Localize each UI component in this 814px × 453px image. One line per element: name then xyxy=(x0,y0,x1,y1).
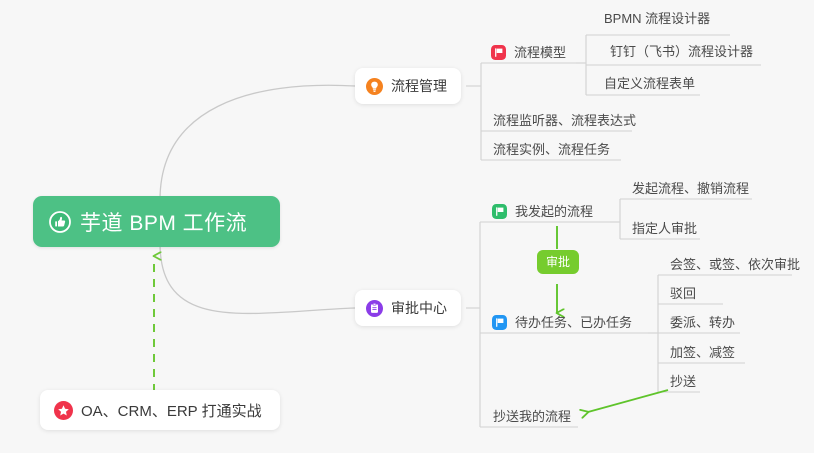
leaf-label: 待办任务、已办任务 xyxy=(515,315,632,330)
leaf-label: 钉钉（飞书）流程设计器 xyxy=(610,44,753,59)
leaf-delegate-transfer[interactable]: 委派、转办 xyxy=(664,315,741,335)
leaf-cc[interactable]: 抄送 xyxy=(664,374,702,394)
leaf-my-initiated[interactable]: 我发起的流程 xyxy=(492,204,599,224)
approval-callout: 审批 xyxy=(537,250,579,274)
star-icon xyxy=(54,401,73,420)
leaf-dingtalk-designer[interactable]: 钉钉（飞书）流程设计器 xyxy=(604,44,759,64)
leaf-label: 发起流程、撤销流程 xyxy=(632,181,749,196)
leaf-label: 流程实例、流程任务 xyxy=(493,142,610,157)
leaf-label: 自定义流程表单 xyxy=(604,76,695,91)
leaf-label: 委派、转办 xyxy=(670,315,735,330)
branch-node-approval-center[interactable]: 审批中心 xyxy=(355,290,461,326)
leaf-label: 指定人审批 xyxy=(632,221,697,236)
leaf-cc-to-me[interactable]: 抄送我的流程 xyxy=(487,409,577,429)
leaf-label: 流程监听器、流程表达式 xyxy=(493,113,636,128)
lightbulb-icon xyxy=(366,78,383,95)
leaf-bpmn-designer[interactable]: BPMN 流程设计器 xyxy=(598,11,716,31)
leaf-start-cancel-process[interactable]: 发起流程、撤销流程 xyxy=(626,181,755,201)
branch-label-process-management: 流程管理 xyxy=(391,76,447,96)
leaf-process-model[interactable]: 流程模型 xyxy=(491,45,572,65)
leaf-label: 抄送我的流程 xyxy=(493,409,571,424)
mindmap-canvas: 芋道 BPM 工作流 流程管理 审批中心 xyxy=(0,0,814,453)
side-note-integration[interactable]: OA、CRM、ERP 打通实战 xyxy=(40,390,280,430)
leaf-label: 我发起的流程 xyxy=(515,204,593,219)
side-note-label: OA、CRM、ERP 打通实战 xyxy=(81,400,262,421)
root-label: 芋道 BPM 工作流 xyxy=(80,207,247,237)
leaf-assignee-approval[interactable]: 指定人审批 xyxy=(626,221,703,241)
flag-icon xyxy=(492,315,507,330)
leaf-label: 会签、或签、依次审批 xyxy=(670,257,800,272)
leaf-todo-done-tasks[interactable]: 待办任务、已办任务 xyxy=(492,315,638,335)
branch-node-process-management[interactable]: 流程管理 xyxy=(355,68,461,104)
leaf-label: 流程模型 xyxy=(514,45,566,60)
branch-label-approval-center: 审批中心 xyxy=(391,298,447,318)
flag-icon xyxy=(491,45,506,60)
root-node[interactable]: 芋道 BPM 工作流 xyxy=(33,196,280,247)
leaf-label: 加签、减签 xyxy=(670,345,735,360)
leaf-countersign[interactable]: 会签、或签、依次审批 xyxy=(664,257,806,277)
thumbs-up-icon xyxy=(49,211,71,233)
leaf-label: BPMN 流程设计器 xyxy=(604,11,710,26)
leaf-label: 驳回 xyxy=(670,286,696,301)
approval-callout-label: 审批 xyxy=(546,255,570,269)
leaf-label: 抄送 xyxy=(670,374,696,389)
clipboard-icon xyxy=(366,300,383,317)
leaf-custom-form[interactable]: 自定义流程表单 xyxy=(598,76,701,96)
leaf-process-listener[interactable]: 流程监听器、流程表达式 xyxy=(487,113,642,133)
leaf-process-instance[interactable]: 流程实例、流程任务 xyxy=(487,142,616,162)
leaf-reject[interactable]: 驳回 xyxy=(664,286,702,306)
leaf-add-remove-sign[interactable]: 加签、减签 xyxy=(664,345,741,365)
flag-icon xyxy=(492,204,507,219)
